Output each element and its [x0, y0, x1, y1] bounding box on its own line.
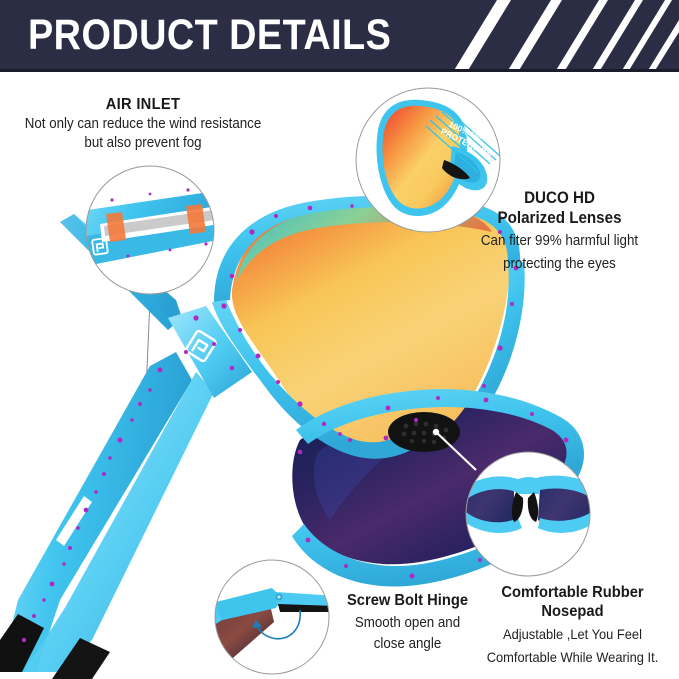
callout-air-inlet-line1: Not only can reduce the wind resistance — [19, 115, 267, 134]
callout-hinge-line2: close angle — [336, 635, 479, 654]
callout-nosepad-line1: Adjustable ,Let You Feel — [478, 625, 667, 644]
callout-air-inlet-line2: but also prevent fog — [19, 134, 267, 153]
callout-lenses-title-line1: DUCO HD — [461, 188, 659, 208]
callout-air-inlet: AIR INLET Not only can reduce the wind r… — [8, 94, 278, 153]
callout-hinge-title: Screw Bolt Hinge — [336, 590, 479, 612]
callout-air-inlet-title: AIR INLET — [19, 94, 267, 115]
callout-nosepad-title-line2: Nosepad — [478, 602, 667, 621]
callout-lenses-title-line2: Polarized Lenses — [461, 208, 659, 228]
callout-hinge-line1: Smooth open and — [336, 614, 479, 633]
product-details-infographic: PRODUCT DETAILS — [0, 0, 679, 679]
callout-lenses: DUCO HD Polarized Lenses Can fiter 99% h… — [452, 188, 667, 274]
callout-lenses-line2: protecting the eyes — [461, 255, 659, 274]
callout-nosepad-title-line1: Comfortable Rubber — [478, 583, 667, 602]
callout-nosepad-line2: Comfortable While Wearing It. — [478, 648, 667, 667]
temple-arm-lower-inner — [24, 372, 214, 672]
callout-nosepad: Comfortable Rubber Nosepad Adjustable ,L… — [470, 583, 675, 667]
leader-dot-hinge — [275, 513, 281, 519]
callout-hinge: Screw Bolt Hinge Smooth open and close a… — [330, 590, 485, 654]
leader-dot-nosepad — [433, 429, 439, 435]
leader-line-hinge — [272, 516, 278, 560]
callout-lenses-line1: Can fiter 99% harmful light — [461, 232, 659, 251]
